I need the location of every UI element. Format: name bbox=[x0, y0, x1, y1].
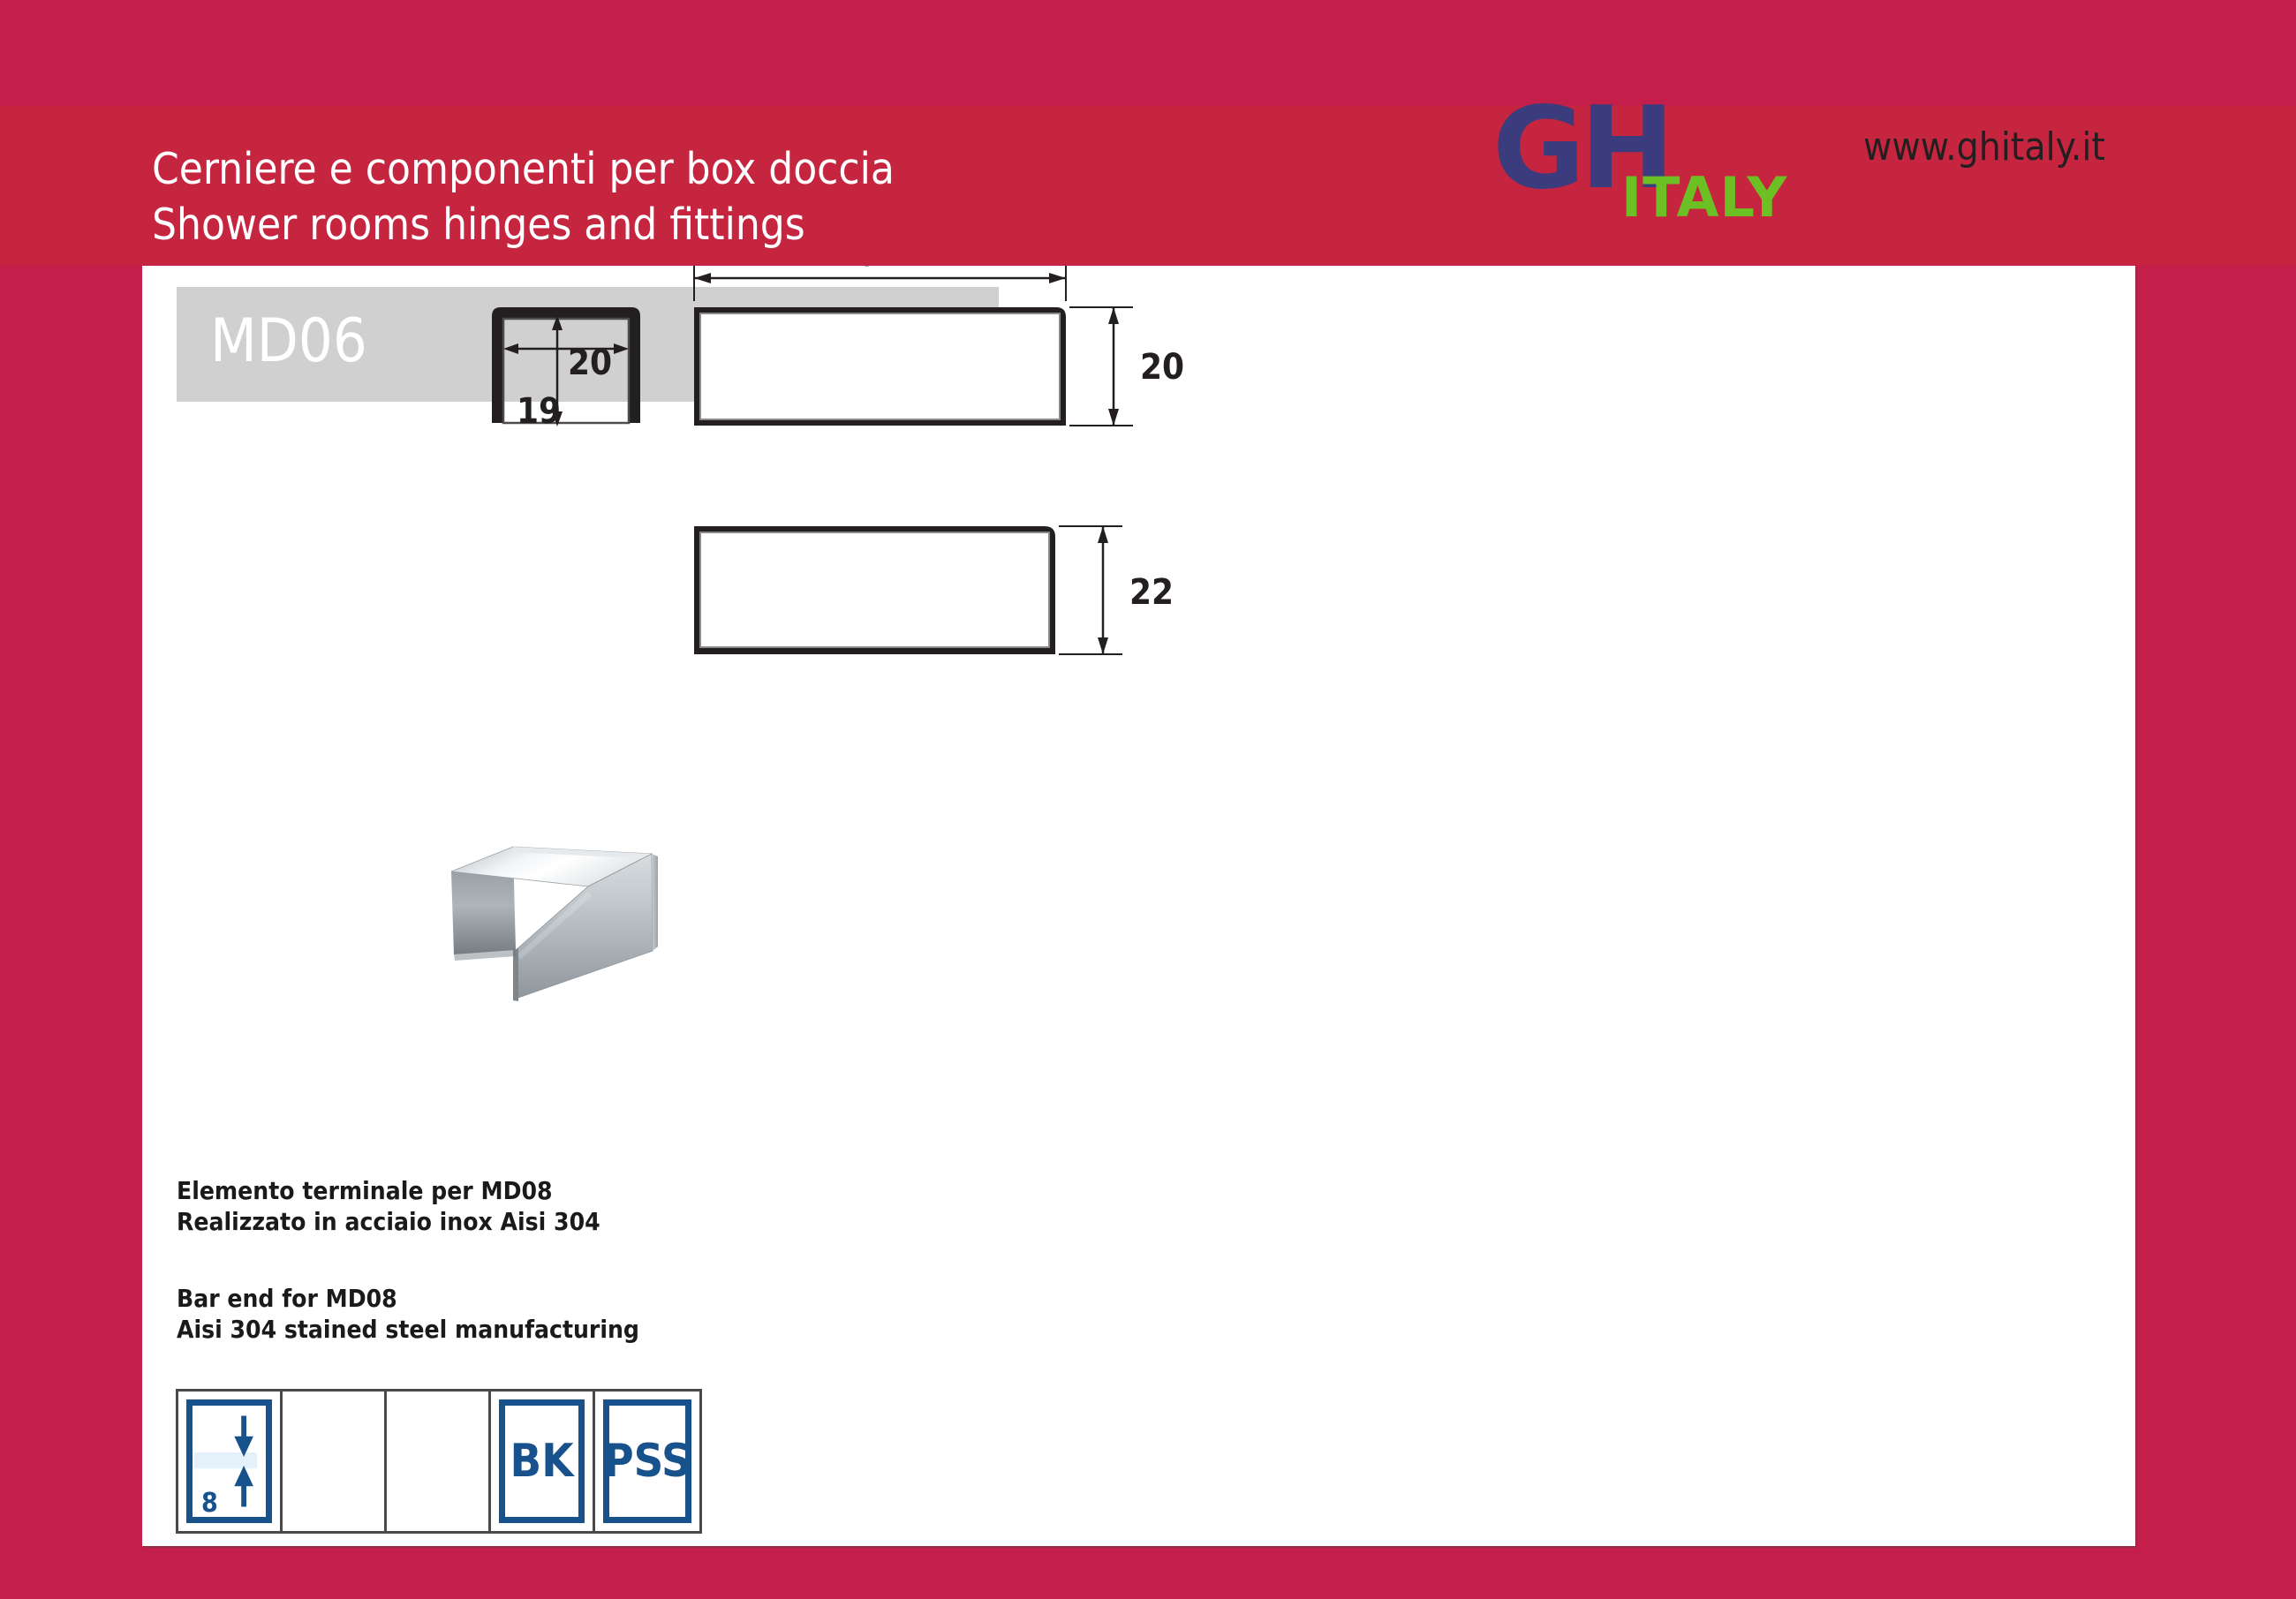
spec-inner-border bbox=[186, 1399, 272, 1523]
brand-logo: GH ITALY www.ghitaly.it bbox=[1492, 93, 2270, 234]
description-en-line2: Aisi 304 stained steel manufacturing bbox=[177, 1314, 639, 1345]
glass-thickness-value: 8 bbox=[201, 1490, 218, 1517]
header-title-block: Cerniere e componenti per box doccia Sho… bbox=[152, 141, 1212, 253]
spec-cell-empty-2[interactable] bbox=[387, 1392, 491, 1531]
description-italian: Elemento terminale per MD08 Realizzato i… bbox=[177, 1175, 600, 1237]
u-channel-cross-section-drawing: 20 19 bbox=[492, 307, 640, 432]
description-english: Bar end for MD08 Aisi 304 stained steel … bbox=[177, 1283, 639, 1345]
spec-cell-glass-thickness[interactable]: 8 bbox=[178, 1392, 283, 1531]
product-sheet: MD06 20 19 bbox=[142, 266, 2135, 1546]
spec-inner-border: BK bbox=[499, 1399, 585, 1523]
product-3d-render bbox=[429, 822, 694, 1007]
description-en-line1: Bar end for MD08 bbox=[177, 1283, 639, 1314]
svg-text:40: 40 bbox=[834, 266, 878, 275]
spec-cell-finish-pss[interactable]: PSS bbox=[595, 1392, 699, 1531]
logo-italy-text: ITALY bbox=[1621, 170, 1787, 225]
header-title-italian: Cerniere e componenti per box doccia bbox=[152, 141, 1212, 197]
front-view-40x20-drawing: 40 20 bbox=[694, 266, 1184, 426]
svg-text:20: 20 bbox=[568, 343, 612, 383]
website-url: www.ghitaly.it bbox=[1863, 126, 2105, 169]
description-it-line2: Realizzato in acciaio inox Aisi 304 bbox=[177, 1206, 600, 1237]
finish-code-bk: BK bbox=[510, 1438, 574, 1484]
specification-row: 8 BK PSS bbox=[176, 1389, 702, 1534]
front-view-height-22-drawing: 22 bbox=[694, 526, 1174, 654]
header-title-english: Shower rooms hinges and fittings bbox=[152, 197, 1212, 253]
svg-text:19: 19 bbox=[517, 391, 561, 432]
finish-code-pss: PSS bbox=[603, 1438, 691, 1484]
svg-text:22: 22 bbox=[1129, 572, 1174, 613]
spec-cell-finish-bk[interactable]: BK bbox=[491, 1392, 595, 1531]
spec-cell-empty-1[interactable] bbox=[283, 1392, 387, 1531]
spec-inner-border: PSS bbox=[603, 1399, 691, 1523]
svg-text:20: 20 bbox=[1140, 347, 1184, 388]
description-it-line1: Elemento terminale per MD08 bbox=[177, 1175, 600, 1206]
